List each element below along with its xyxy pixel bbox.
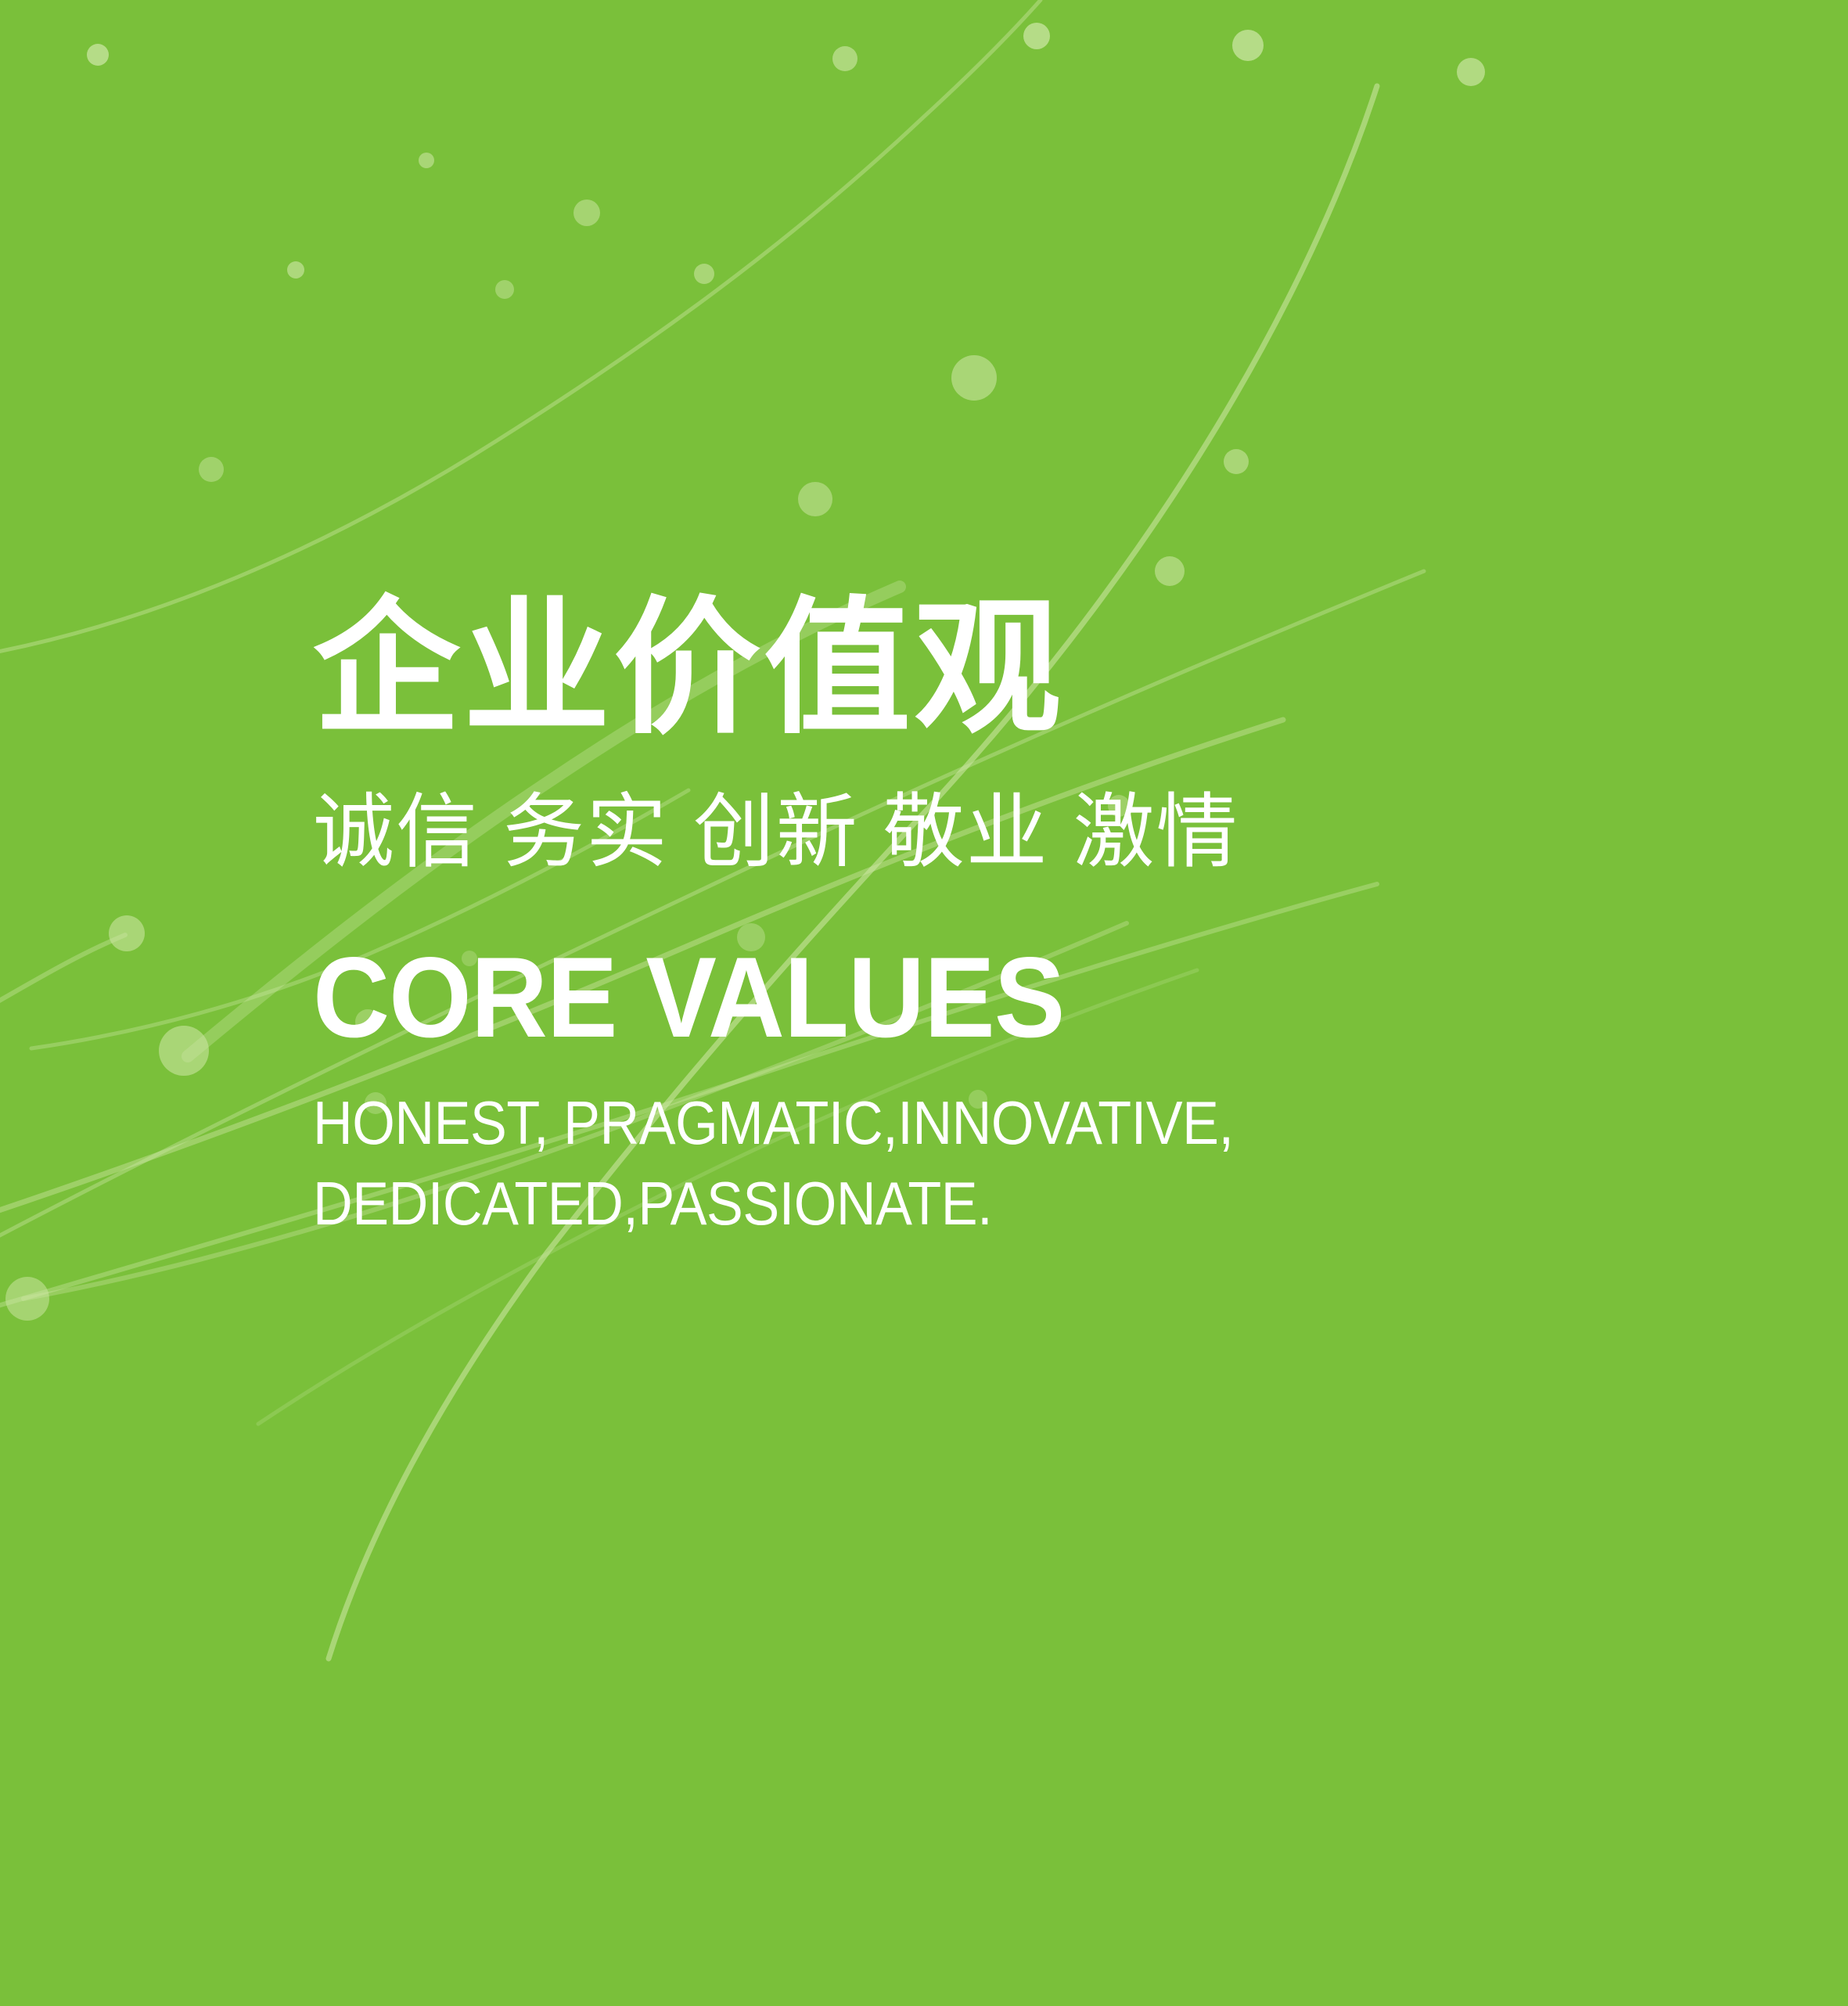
- subtitle-english: HONEST, PRAGMATIC,INNOVATIVE, DEDICATED,…: [313, 1083, 1580, 1244]
- decorative-dot: [159, 1026, 209, 1076]
- decorative-dot: [5, 1277, 49, 1321]
- decorative-dot: [1457, 58, 1485, 86]
- decorative-dot: [573, 200, 600, 226]
- decorative-dot: [1155, 556, 1185, 586]
- decorative-dot: [199, 457, 224, 482]
- decorative-dot: [87, 44, 109, 66]
- subtitle-english-line-2: DEDICATED,PASSIONATE.: [313, 1163, 1580, 1244]
- decorative-dot: [287, 261, 304, 279]
- decorative-dot: [1023, 23, 1050, 49]
- page-title-english: CORE VALUES: [313, 940, 1623, 1055]
- decorative-dot: [419, 153, 434, 168]
- decorative-dot: [1224, 449, 1249, 474]
- core-values-poster: 企业价值观 诚信 务实 创新 敬业 激情 CORE VALUES HONEST,…: [0, 0, 1848, 2006]
- decorative-dot: [109, 915, 145, 951]
- page-title-chinese: 企业价值观: [313, 595, 1721, 742]
- decorative-dot: [694, 264, 714, 284]
- decorative-dot: [798, 482, 832, 516]
- decorative-dot: [495, 280, 514, 299]
- decorative-dot: [951, 355, 997, 401]
- subtitle-english-line-1: HONEST, PRAGMATIC,INNOVATIVE,: [313, 1083, 1580, 1163]
- decorative-dot: [1232, 30, 1264, 61]
- subtitle-chinese: 诚信 务实 创新 敬业 激情: [313, 792, 1721, 873]
- decorative-dot: [832, 46, 857, 71]
- text-block: 企业价值观 诚信 务实 创新 敬业 激情 CORE VALUES HONEST,…: [313, 595, 1721, 1244]
